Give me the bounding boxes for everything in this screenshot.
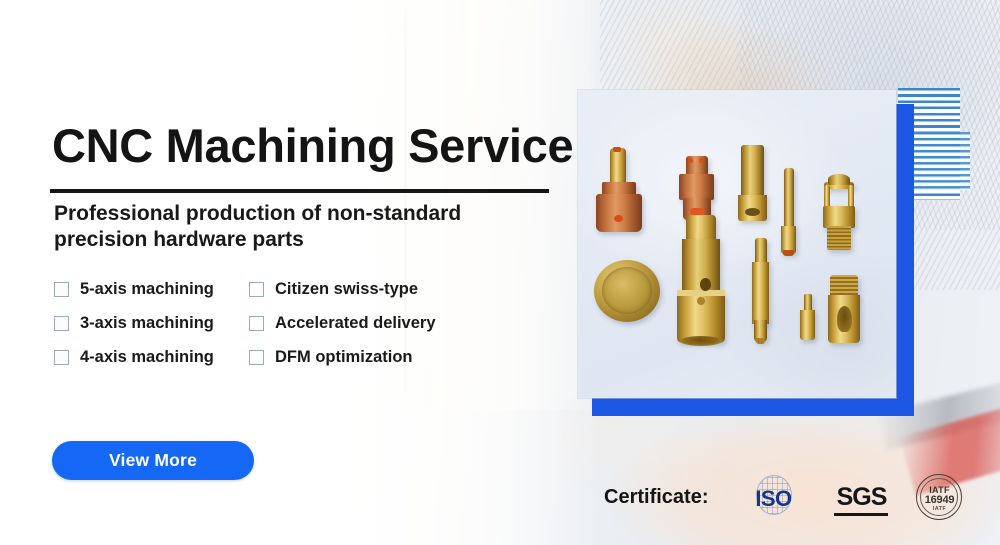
banner-content: CNC Machining Service Professional produ… bbox=[0, 0, 1000, 545]
feature-item-accelerated-delivery[interactable]: Accelerated delivery bbox=[249, 314, 459, 333]
checkbox-icon[interactable] bbox=[249, 282, 264, 297]
feature-item-4-axis-machining[interactable]: 4-axis machining bbox=[54, 348, 249, 367]
iatf-seal-line3: IATF bbox=[916, 506, 962, 512]
feature-item-citizen-swiss-type[interactable]: Citizen swiss-type bbox=[249, 280, 459, 299]
page-title: CNC Machining Service bbox=[52, 118, 573, 173]
feature-checkbox-list: 5-axis machining Citizen swiss-type 3-ax… bbox=[54, 272, 474, 374]
feature-label: 3-axis machining bbox=[80, 314, 214, 333]
feature-item-5-axis-machining[interactable]: 5-axis machining bbox=[54, 280, 249, 299]
checkbox-icon[interactable] bbox=[54, 316, 69, 331]
title-divider bbox=[50, 189, 549, 193]
feature-label: 4-axis machining bbox=[80, 348, 214, 367]
sgs-logo-icon: SGS bbox=[828, 475, 894, 519]
iatf-seal-line2: 16949 bbox=[916, 494, 962, 506]
feature-label: Citizen swiss-type bbox=[275, 280, 418, 299]
sgs-logo-text: SGS bbox=[828, 483, 894, 512]
feature-item-dfm-optimization[interactable]: DFM optimization bbox=[249, 348, 459, 367]
cnc-machining-banner: CNC Machining Service Professional produ… bbox=[0, 0, 1000, 545]
sgs-logo-underline bbox=[834, 513, 888, 516]
checkbox-icon[interactable] bbox=[54, 282, 69, 297]
iso-logo-icon: ISO bbox=[742, 475, 804, 519]
iatf-16949-seal-icon: IATF 16949 IATF bbox=[916, 474, 962, 520]
view-more-button-label: View More bbox=[109, 450, 197, 471]
iso-logo-text: ISO bbox=[742, 486, 804, 512]
feature-label: Accelerated delivery bbox=[275, 314, 436, 333]
feature-label: 5-axis machining bbox=[80, 280, 214, 299]
page-subtitle: Professional production of non-standard … bbox=[54, 201, 524, 252]
view-more-button[interactable]: View More bbox=[52, 441, 254, 480]
checkbox-icon[interactable] bbox=[249, 316, 264, 331]
feature-label: DFM optimization bbox=[275, 348, 412, 367]
certificate-label: Certificate: bbox=[604, 486, 708, 509]
certificate-row: Certificate: ISO SGS IATF 16949 IATF bbox=[604, 474, 962, 520]
checkbox-icon[interactable] bbox=[249, 350, 264, 365]
feature-item-3-axis-machining[interactable]: 3-axis machining bbox=[54, 314, 249, 333]
checkbox-icon[interactable] bbox=[54, 350, 69, 365]
certificate-badges: ISO SGS IATF 16949 IATF bbox=[708, 474, 962, 520]
